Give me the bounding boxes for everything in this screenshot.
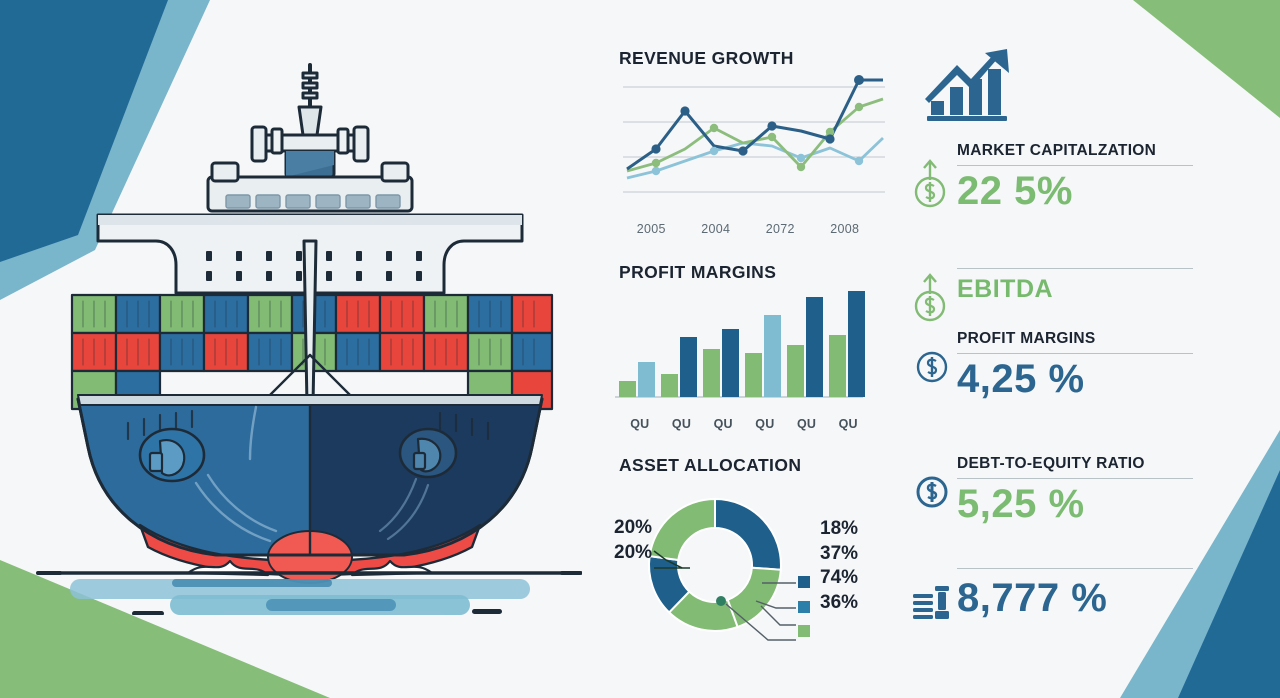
dollar-coin-icon xyxy=(911,346,953,388)
ship-anchor-right xyxy=(400,429,456,477)
donut-left-label-0: 20% xyxy=(614,515,652,540)
ship-anchor-left xyxy=(140,429,204,481)
donut-left-labels: 20% 20% xyxy=(614,515,652,565)
revenue-axis-labels: 2005 2004 2072 2008 xyxy=(619,222,877,236)
bar-tick-5: QU xyxy=(827,417,869,431)
kpi-title-profit-margins: PROFIT MARGINS xyxy=(957,330,1235,348)
dollar-coin-icon-2 xyxy=(911,471,953,513)
bar-tick-1: QU xyxy=(661,417,703,431)
kpi-rule-market-cap xyxy=(957,165,1193,166)
axis-tick-2: 2072 xyxy=(748,222,813,236)
kpi-value-market-cap: 22 5% xyxy=(957,170,1235,213)
bar-group-6 xyxy=(829,291,865,397)
bar-group-5 xyxy=(787,297,823,397)
profit-margins-chart: PROFIT MARGINS xyxy=(605,262,905,431)
bar-tick-0: QU xyxy=(619,417,661,431)
legend-swatch-0 xyxy=(798,576,810,588)
donut-segment-20b xyxy=(650,499,715,560)
kpi-debt-to-equity: DEBT-TO-EQUITY RATIO 5,25 % xyxy=(905,455,1235,526)
donut-accent-dot xyxy=(716,596,726,606)
dollar-coin-up-icon xyxy=(907,158,953,212)
legend-label-0: 18% xyxy=(820,517,858,542)
bar-group-4 xyxy=(745,315,781,397)
kpi-profit-margins: PROFIT MARGINS 4,25 % xyxy=(905,330,1235,401)
bar-group-1 xyxy=(619,362,655,397)
bar-tick-3: QU xyxy=(744,417,786,431)
kpi-rule-bottom xyxy=(957,568,1193,569)
kpi-bottom-metric: 8,777 % xyxy=(905,568,1235,620)
asset-allocation-chart: ASSET ALLOCATION xyxy=(605,455,905,652)
kpi-value-debt-to-equity: 5,25 % xyxy=(957,483,1235,526)
revenue-line-plot xyxy=(615,75,890,215)
bar-group-2 xyxy=(661,337,697,397)
legend-swatch-1 xyxy=(798,601,810,613)
revenue-growth-chart: REVENUE GROWTH xyxy=(605,48,905,236)
bar-tick-4: QU xyxy=(786,417,828,431)
growth-chart-icon xyxy=(923,45,1015,125)
axis-tick-3: 2008 xyxy=(813,222,878,236)
legend-label-3: 36% xyxy=(820,591,858,616)
kpi-ebitda: EBITDA xyxy=(905,268,1235,304)
kpi-title-debt-to-equity: DEBT-TO-EQUITY RATIO xyxy=(957,455,1235,473)
axis-tick-0: 2005 xyxy=(619,222,684,236)
donut-legend-labels: 18% 37% 74% 36% xyxy=(820,517,858,615)
profit-axis-labels: QU QU QU QU QU QU xyxy=(619,417,869,431)
kpi-title-ebitda: EBITDA xyxy=(957,275,1235,304)
kpi-rule-profit-margins xyxy=(957,353,1193,354)
charts-column: REVENUE GROWTH xyxy=(605,48,905,668)
kpi-value-bottom: 8,777 % xyxy=(957,577,1235,620)
ship-bridge-deck xyxy=(252,127,368,177)
kpi-rule-ebitda xyxy=(957,268,1193,269)
profit-bar-plot xyxy=(605,289,870,409)
legend-label-2: 74% xyxy=(820,566,858,591)
stacked-coins-icon xyxy=(911,584,955,624)
bar-group-3 xyxy=(703,329,739,397)
revenue-growth-title: REVENUE GROWTH xyxy=(619,48,905,69)
donut-ring xyxy=(649,499,781,631)
kpi-title-market-cap: MARKET CAPITALZATION xyxy=(957,142,1235,160)
ship-mast xyxy=(299,65,321,135)
dollar-coin-up-icon-2 xyxy=(907,272,953,326)
axis-tick-1: 2004 xyxy=(684,222,749,236)
profit-margins-title: PROFIT MARGINS xyxy=(619,262,905,283)
donut-legend xyxy=(798,576,810,647)
legend-swatch-2 xyxy=(798,625,810,637)
infographic-canvas: REVENUE GROWTH xyxy=(0,0,1280,698)
container-cargo-ship-illustration xyxy=(20,55,600,615)
donut-segment-18 xyxy=(715,499,781,570)
donut-left-label-1: 20% xyxy=(614,540,652,565)
bar-tick-2: QU xyxy=(702,417,744,431)
asset-allocation-title: ASSET ALLOCATION xyxy=(619,455,905,476)
kpi-value-profit-margins: 4,25 % xyxy=(957,358,1235,401)
kpi-column: MARKET CAPITALZATION 22 5% xyxy=(905,40,1235,670)
legend-label-1: 37% xyxy=(820,542,858,567)
kpi-rule-debt-to-equity xyxy=(957,478,1193,479)
kpi-market-capitalization: MARKET CAPITALZATION 22 5% xyxy=(905,142,1235,213)
